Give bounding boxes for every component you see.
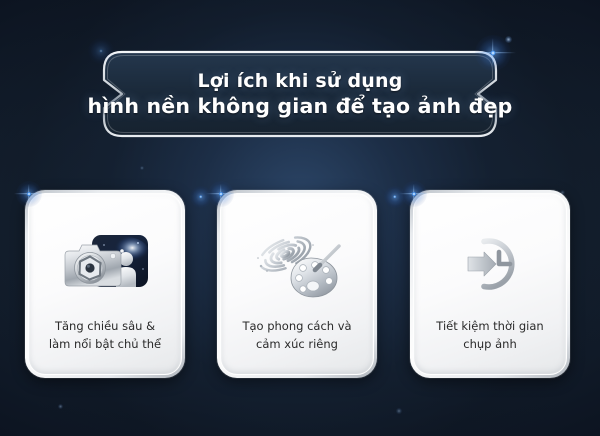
benefit-card-depth-subject[interactable]: Tăng chiều sâu & làm nổi bật chủ thể bbox=[25, 190, 185, 378]
card-caption: Tiết kiệm thời gian chụp ảnh bbox=[426, 318, 553, 354]
banner-title-line1: Lợi ích khi sử dụng bbox=[198, 70, 403, 92]
card-2-sparkle-icon bbox=[220, 193, 221, 194]
camera-galaxy-portrait-icon bbox=[59, 226, 151, 302]
banner-title-block: Lợi ích khi sử dụng hình nền không gian … bbox=[100, 48, 500, 140]
gap-sparkle-right-icon bbox=[394, 196, 395, 197]
card-caption-line1: Tạo phong cách và bbox=[242, 318, 351, 336]
gap-sparkle-left-icon bbox=[200, 196, 201, 197]
benefit-card-style-emotion[interactable]: Tạo phong cách và cảm xúc riêng bbox=[217, 190, 377, 378]
card-1-sparkle-icon bbox=[28, 193, 29, 194]
poster-canvas: Lợi ích khi sử dụng hình nền không gian … bbox=[0, 0, 600, 436]
card-caption-line2: cảm xúc riêng bbox=[242, 336, 351, 354]
bg-dust-3 bbox=[396, 408, 402, 414]
card-caption-line2: làm nổi bật chủ thể bbox=[49, 336, 161, 354]
benefit-card-time-saving[interactable]: Tiết kiệm thời gian chụp ảnh bbox=[410, 190, 570, 378]
card-caption-line1: Tăng chiều sâu & bbox=[49, 318, 161, 336]
bg-dust-1 bbox=[505, 36, 512, 43]
card-caption-line1: Tiết kiệm thời gian bbox=[436, 318, 543, 336]
banner-title-line2: hình nền không gian để tạo ảnh đẹp bbox=[88, 94, 513, 118]
card-caption: Tăng chiều sâu & làm nổi bật chủ thể bbox=[39, 318, 171, 354]
card-caption: Tạo phong cách và cảm xúc riêng bbox=[232, 318, 361, 354]
bg-dust-4 bbox=[140, 166, 144, 170]
bg-dust-2 bbox=[58, 404, 63, 409]
card-3-sparkle-icon bbox=[413, 193, 414, 194]
card-caption-line2: chụp ảnh bbox=[436, 336, 543, 354]
galaxy-palette-icon bbox=[251, 226, 343, 302]
fast-clock-icon bbox=[444, 226, 536, 302]
title-banner: Lợi ích khi sử dụng hình nền không gian … bbox=[100, 48, 500, 140]
